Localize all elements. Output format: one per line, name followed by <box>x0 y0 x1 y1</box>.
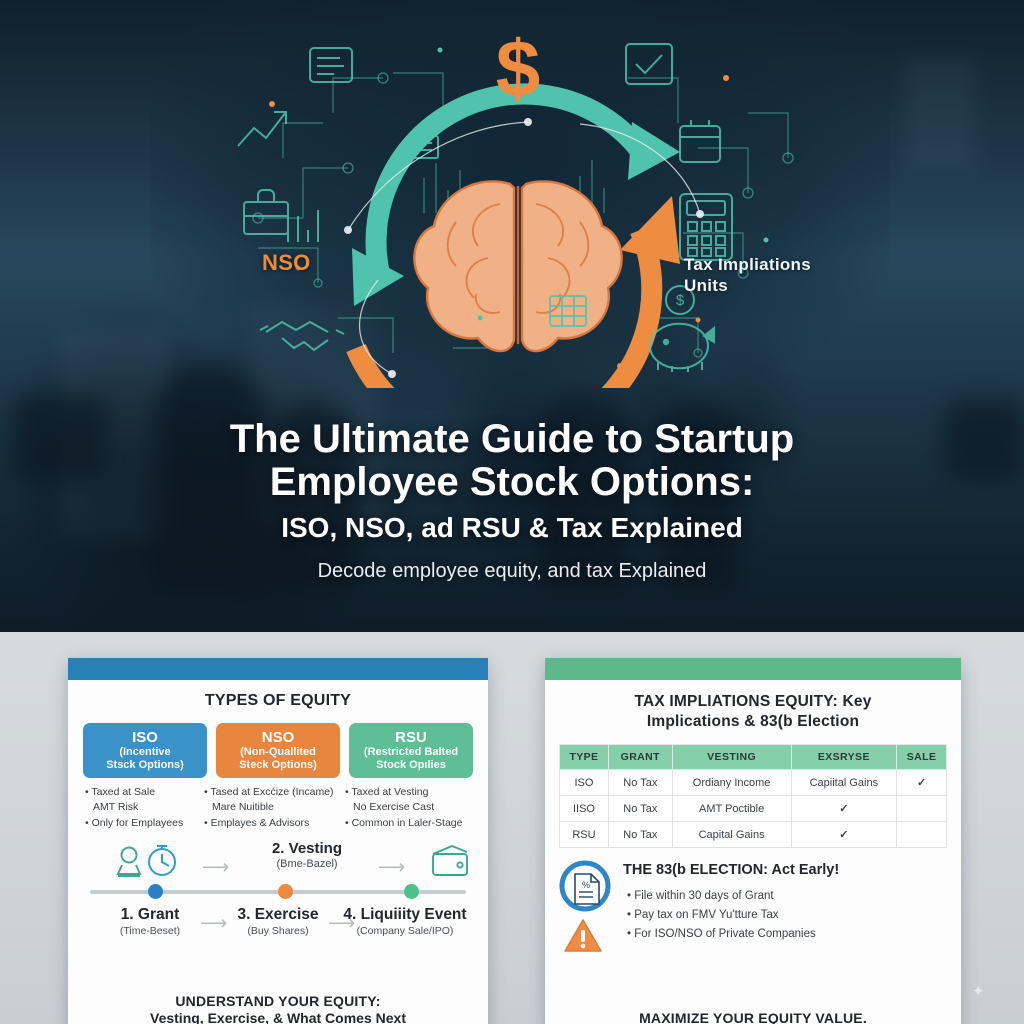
card-right-title-line1: TAX IMPLIATIONS EQUITY: Key <box>585 692 921 712</box>
cell-sale-check: ✓ <box>897 770 947 796</box>
page-tagline: Decode employee equity, and tax Explaine… <box>0 560 1024 583</box>
calculator-icon <box>680 194 732 260</box>
cell-grant: No Tax <box>608 796 672 822</box>
table-body: ISO No Tax Ordiany Income Capiital Gains… <box>560 770 947 848</box>
badge-iso-bullets: • Taxed at Sale AMT Risk • Only for Empl… <box>83 785 207 831</box>
timeline-step-exercise-sub: (Buy Shares) <box>212 925 344 937</box>
cell-exercise: Capiital Gains <box>791 770 897 796</box>
cell-vesting: AMT Poctible <box>672 796 791 822</box>
table-header-row: TYPE GRANT VESTING EXSRYSE SALE <box>560 745 947 770</box>
election-83b-title: THE 83(b ELECTION: Act Early! <box>623 862 947 878</box>
list-item: AMT Risk <box>83 800 207 815</box>
hero-label-tax-line2: Units <box>684 276 811 297</box>
hero-label-tax-line1: Tax Impliations <box>684 255 811 276</box>
equity-badge-column-nso: NSO (Non-Quallited Steck Options) • Tase… <box>216 723 340 831</box>
page-title-line1: The Ultimate Guide to Startup <box>0 418 1024 461</box>
timeline-step-liquidity-label: 4. Liquiiity Event <box>334 906 476 924</box>
card-left-cta: UNDERSTAND YOUR EQUITY: Vesting, Exercis… <box>68 993 488 1024</box>
wallet-icon <box>430 844 470 883</box>
timeline-step-liquidity-sub: (Company Sale/IPO) <box>334 925 476 937</box>
hero-banner: $ <box>0 0 1024 632</box>
timeline-step-grant-sub: (Time-Beset) <box>80 925 220 937</box>
badge-rsu-sub1: (Restricted Balted <box>353 746 469 759</box>
list-item: Mare Nuitible <box>202 800 340 815</box>
timeline-step-exercise-label: 3. Exercise <box>212 906 344 924</box>
timeline-step-vesting-sub: (Bme-Bazel) <box>242 858 372 870</box>
dollar-sign-icon: $ <box>496 24 541 113</box>
card-right-cta-line1: MAXIMIZE YOUR EQUITY VALUE. <box>545 1010 961 1024</box>
teal-cycle-arrow <box>352 94 680 306</box>
document-icon <box>310 48 352 82</box>
card-left-body: TYPES OF EQUITY ISO (Incentive Stsck Opt… <box>68 680 488 1024</box>
badge-rsu-bullets: • Taxed at Vesting No Exercise Cast • Co… <box>343 785 473 831</box>
timeline-step-exercise: 3. Exercise (Buy Shares) <box>212 906 344 937</box>
cell-type: ISO <box>560 770 609 796</box>
badge-rsu-sub2: Stock Opılies <box>353 759 469 772</box>
table-row: IISO No Tax AMT Poctible ✓ <box>560 796 947 822</box>
col-header-type: TYPE <box>560 745 609 770</box>
handshake-icon <box>260 322 344 350</box>
election-83b-block: % THE 83(b ELECTION: Act Early! • File w… <box>559 862 947 958</box>
badge-nso-bullets: • Tased at Excćize (Incame) Mare Nuitibl… <box>202 785 340 831</box>
cell-vesting: Ordiany Income <box>672 770 791 796</box>
card-left-cta-line2: Vesting, Exercise, & What Comes Next <box>68 1010 488 1024</box>
warning-icon <box>563 918 603 959</box>
growth-arrow-icon <box>238 112 286 146</box>
stopwatch-icon <box>149 846 175 875</box>
hero-text-block: The Ultimate Guide to Startup Employee S… <box>0 418 1024 583</box>
cell-vesting: Capital Gains <box>672 822 791 848</box>
list-item: • File within 30 days of Grant <box>623 887 947 906</box>
briefcase-icon <box>244 190 288 234</box>
card-right-title: TAX IMPLIATIONS EQUITY: Key Implications… <box>559 692 947 732</box>
badge-nso[interactable]: NSO (Non-Quallited Steck Options) <box>216 723 340 778</box>
card-types-of-equity: TYPES OF EQUITY ISO (Incentive Stsck Opt… <box>68 658 488 1024</box>
timeline-dot-exercise <box>278 884 293 899</box>
election-83b-bullets: • File within 30 days of Grant • Pay tax… <box>623 887 947 944</box>
list-item: • Common in Laler-Stage <box>343 816 473 831</box>
grant-clock-icons <box>112 842 186 885</box>
badge-iso-sub1: (Incentive <box>87 746 203 759</box>
table-row: RSU No Tax Capital Gains ✓ <box>560 822 947 848</box>
cell-sale <box>897 822 947 848</box>
card-right-body: TAX IMPLIATIONS EQUITY: Key Implications… <box>545 680 961 1024</box>
infographic-page: $ <box>0 0 1024 1024</box>
cell-type: IISO <box>560 796 609 822</box>
equity-badge-column-iso: ISO (Incentive Stsck Options) • Taxed at… <box>83 723 207 831</box>
page-subtitle-line: ISO, NSO, ad RSU & Tax Explained <box>0 512 1024 544</box>
timeline-step-vesting-label: 2. Vesting <box>242 840 372 857</box>
badge-iso[interactable]: ISO (Incentive Stsck Options) <box>83 723 207 778</box>
col-header-sale: SALE <box>897 745 947 770</box>
card-tax-implications: TAX IMPLIATIONS EQUITY: Key Implications… <box>545 658 961 1024</box>
list-item: • Emplayes & Advisors <box>202 816 340 831</box>
timeline-step-grant-label: 1. Grant <box>80 906 220 924</box>
list-item: No Exercise Cast <box>343 800 473 815</box>
cell-grant: No Tax <box>608 770 672 796</box>
col-header-exercise: EXSRYSE <box>791 745 897 770</box>
list-item: • For ISO/NSO of Private Companies <box>623 925 947 944</box>
cell-type: RSU <box>560 822 609 848</box>
timeline-step-grant: 1. Grant (Time-Beset) <box>80 906 220 937</box>
card-right-top-bar <box>545 658 961 680</box>
tax-treatment-table: TYPE GRANT VESTING EXSRYSE SALE ISO No T… <box>559 744 947 848</box>
calendar-icon <box>680 120 720 162</box>
list-item: • Pay tax on FMV Yu'tture Tax <box>623 906 947 925</box>
card-left-cta-line1: UNDERSTAND YOUR EQUITY: <box>68 993 488 1009</box>
badge-rsu-code: RSU <box>353 729 469 746</box>
timeline-dot-grant <box>148 884 163 899</box>
badge-nso-sub2: Steck Options) <box>220 759 336 772</box>
table-row: ISO No Tax Ordiany Income Capiital Gains… <box>560 770 947 796</box>
equity-cycle-graphic: $ <box>228 18 808 388</box>
cell-grant: No Tax <box>608 822 672 848</box>
list-item: • Taxed at Sale <box>83 785 207 800</box>
card-left-top-bar <box>68 658 488 680</box>
timeline-step-liquidity: 4. Liquiiity Event (Company Sale/IPO) <box>334 906 476 937</box>
badge-nso-code: NSO <box>220 729 336 746</box>
sparkle-icon: ✦ <box>972 982 985 1000</box>
list-item: • Taxed at Vesting <box>343 785 473 800</box>
badge-iso-code: ISO <box>87 729 203 746</box>
cell-exercise-check: ✓ <box>791 796 897 822</box>
timeline-dot-liquidity <box>404 884 419 899</box>
card-left-title: TYPES OF EQUITY <box>82 692 474 710</box>
document-badge-icon: % <box>559 860 611 917</box>
hero-label-nso: NSO <box>262 250 311 276</box>
badge-rsu[interactable]: RSU (Restricted Balted Stock Opılies <box>349 723 473 778</box>
table-head: TYPE GRANT VESTING EXSRYSE SALE <box>560 745 947 770</box>
list-item: • Tased at Excćize (Incame) <box>202 785 340 800</box>
col-header-grant: GRANT <box>608 745 672 770</box>
timeline-step-vesting: 2. Vesting (Bme-Bazel) <box>242 840 372 870</box>
brain-icon <box>414 181 621 351</box>
card-right-title-line2: Implications & 83(b Election <box>585 712 921 732</box>
award-icon <box>118 847 140 876</box>
timeline-arrow-icon: ⟶ <box>202 856 229 879</box>
timeline-arrow-icon: ⟶ <box>378 856 405 879</box>
page-title-line2: Employee Stock Options: <box>0 461 1024 504</box>
card-right-cta: MAXIMIZE YOUR EQUITY VALUE. #StartupTax … <box>545 1010 961 1024</box>
col-header-vesting: VESTING <box>672 745 791 770</box>
equity-lifecycle-timeline: ⟶ 2. Vesting (Bme-Bazel) ⟶ <box>82 842 474 954</box>
badge-nso-sub1: (Non-Quallited <box>220 746 336 759</box>
hero-label-tax-implications: Tax Impliations Units <box>684 255 811 296</box>
svg-text:%: % <box>582 880 590 890</box>
cell-sale <box>897 796 947 822</box>
equity-type-badges: ISO (Incentive Stsck Options) • Taxed at… <box>82 723 474 831</box>
equity-badge-column-rsu: RSU (Restricted Balted Stock Opılies • T… <box>349 723 473 831</box>
list-item: • Only for Emplayees <box>83 816 207 831</box>
badge-iso-sub2: Stsck Options) <box>87 759 203 772</box>
cell-exercise-check: ✓ <box>791 822 897 848</box>
